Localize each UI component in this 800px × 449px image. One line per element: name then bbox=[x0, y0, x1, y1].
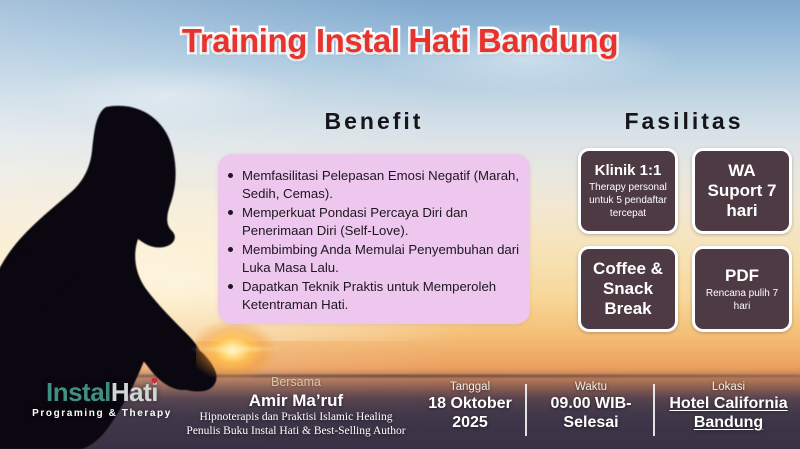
facility-subtitle: Therapy personal untuk 5 pendaftar terce… bbox=[585, 181, 671, 220]
facility-title: Coffee & Snack Break bbox=[585, 259, 671, 319]
info-date-value-line1: 18 Oktober bbox=[415, 394, 525, 413]
speaker-block: Bersama Amir Ma’ruf Hipnoterapis dan Pra… bbox=[178, 376, 414, 438]
brand-logo-wordmark: InstalHati bbox=[46, 379, 158, 405]
facility-subtitle: Rencana pulih 7 hari bbox=[699, 287, 785, 313]
benefit-item: Membimbing Anda Memulai Penyembuhan dari… bbox=[242, 241, 520, 277]
facility-title: PDF bbox=[725, 266, 759, 286]
info-location-label: Lokasi bbox=[657, 380, 800, 394]
info-location-value-line2: Bandung bbox=[657, 413, 800, 432]
info-date-value-line2: 2025 bbox=[415, 413, 525, 432]
facility-title: WA Suport 7 hari bbox=[699, 161, 785, 221]
brand-logo-part1: Instal bbox=[46, 377, 111, 407]
benefit-item: Memfasilitasi Pelepasan Emosi Negatif (M… bbox=[242, 167, 520, 203]
info-location: Lokasi Hotel California Bandung bbox=[657, 380, 800, 432]
facility-title: Klinik 1:1 bbox=[595, 162, 662, 180]
facility-box-wa-support: WA Suport 7 hari bbox=[692, 148, 792, 234]
facility-box-pdf: PDF Rencana pulih 7 hari bbox=[692, 246, 792, 332]
fasilitas-heading: Fasilitas bbox=[570, 108, 798, 135]
info-time-value-line1: 09.00 WIB- bbox=[530, 394, 652, 413]
info-date-label: Tanggal bbox=[415, 380, 525, 394]
info-date: Tanggal 18 Oktober 2025 bbox=[415, 380, 525, 432]
info-time-label: Waktu bbox=[530, 380, 652, 394]
speaker-credential-line1: Hipnoterapis dan Praktisi Islamic Healin… bbox=[178, 411, 414, 425]
page-title: Training Instal Hati Bandung bbox=[0, 24, 800, 57]
facility-box-klinik: Klinik 1:1 Therapy personal untuk 5 pend… bbox=[578, 148, 678, 234]
brand-logo-tagline: Programing & Therapy bbox=[22, 408, 182, 419]
fasilitas-grid: Klinik 1:1 Therapy personal untuk 5 pend… bbox=[578, 148, 792, 332]
speaker-prefix: Bersama bbox=[178, 376, 414, 389]
benefit-heading: Benefit bbox=[218, 108, 530, 135]
benefit-list: Memfasilitasi Pelepasan Emosi Negatif (M… bbox=[218, 154, 530, 314]
footer-divider bbox=[525, 384, 527, 436]
benefit-panel: Memfasilitasi Pelepasan Emosi Negatif (M… bbox=[218, 154, 530, 324]
facility-box-coffee-snack: Coffee & Snack Break bbox=[578, 246, 678, 332]
benefit-item: Dapatkan Teknik Praktis untuk Memperoleh… bbox=[242, 278, 520, 314]
info-time: Waktu 09.00 WIB- Selesai bbox=[530, 380, 652, 432]
heart-icon bbox=[150, 376, 159, 385]
brand-logo: InstalHati Programing & Therapy bbox=[22, 379, 182, 419]
poster-canvas: Training Instal Hati Bandung Benefit Mem… bbox=[0, 0, 800, 449]
speaker-credential-line2: Penulis Buku Instal Hati & Best-Selling … bbox=[178, 425, 414, 439]
info-location-value-line1: Hotel California bbox=[657, 394, 800, 413]
footer-divider bbox=[653, 384, 655, 436]
benefit-item: Memperkuat Pondasi Percaya Diri dan Pene… bbox=[242, 204, 520, 240]
speaker-name: Amir Ma’ruf bbox=[178, 390, 414, 411]
info-time-value-line2: Selesai bbox=[530, 413, 652, 432]
